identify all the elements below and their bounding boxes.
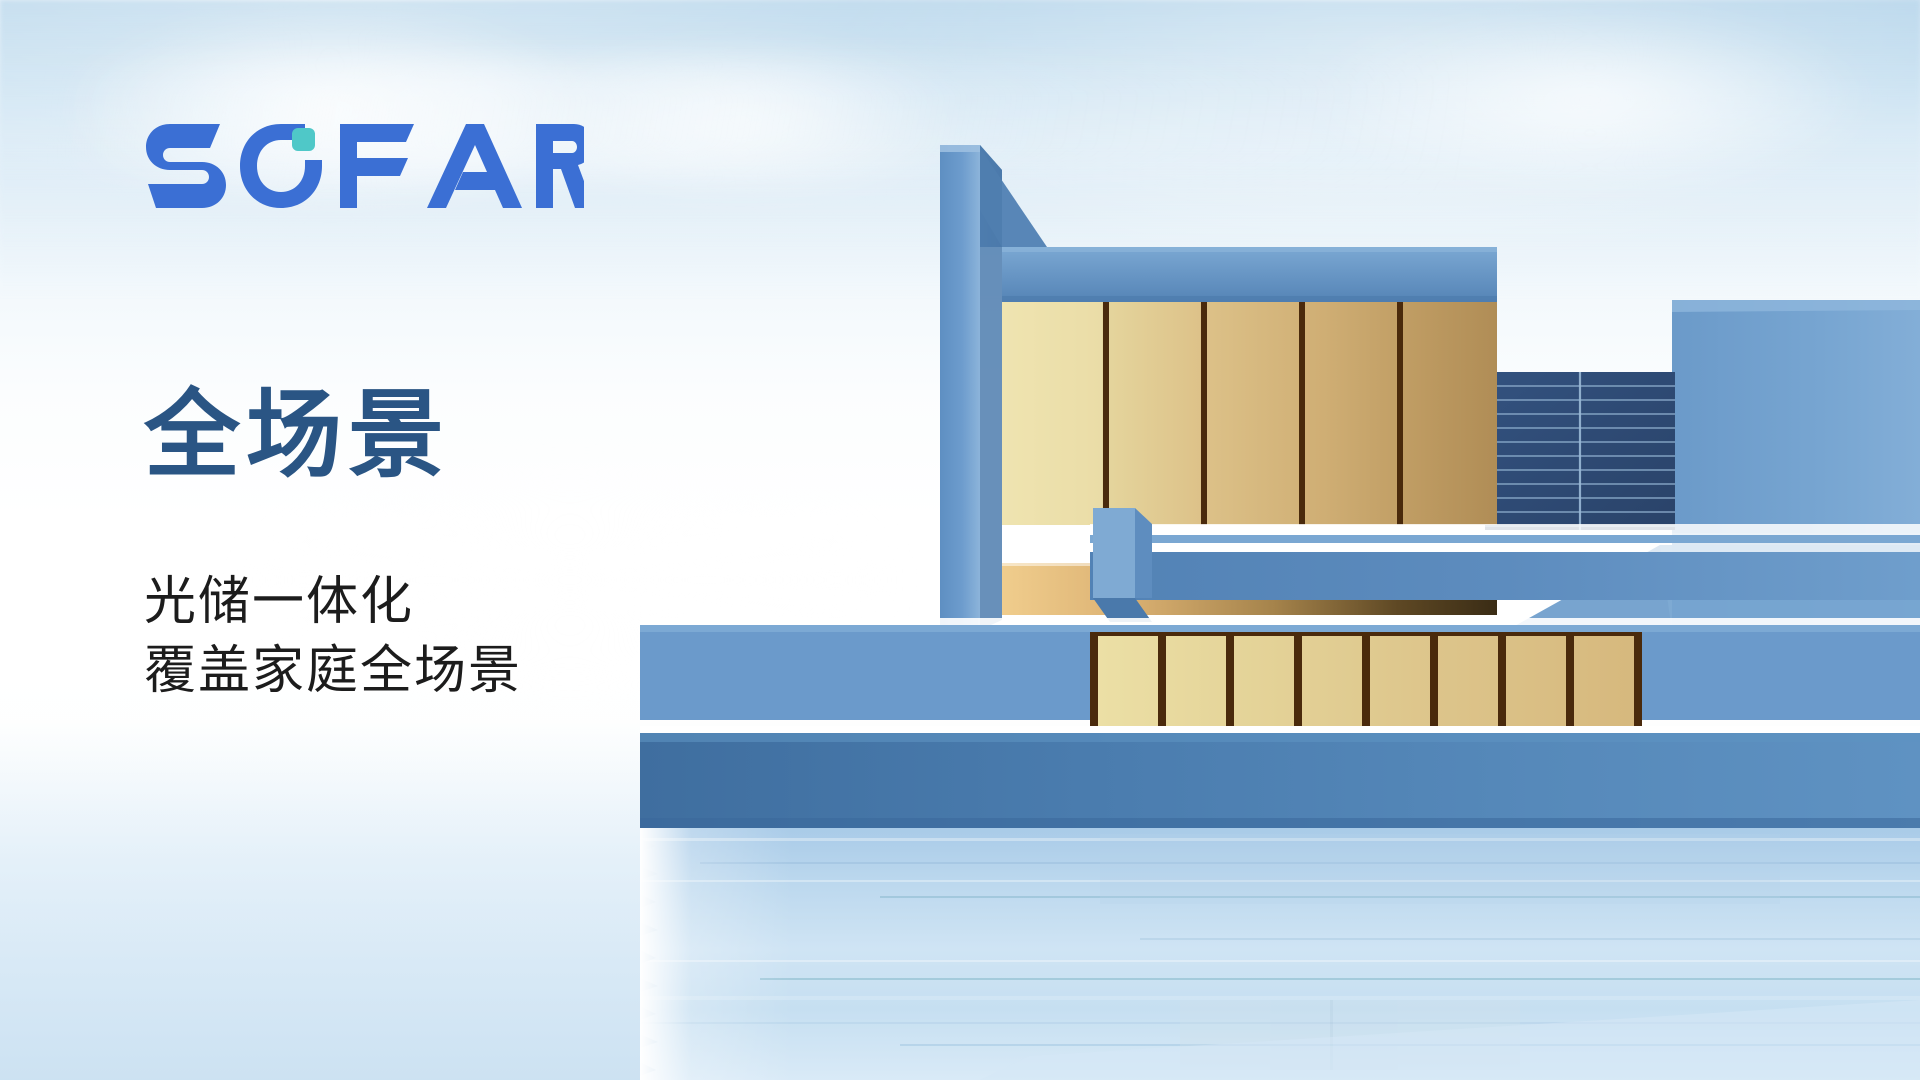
sofar-logo [144, 120, 584, 212]
logo-accent-square [292, 128, 315, 151]
subtitle-line-1: 光储一体化 [144, 568, 522, 637]
sky-bottom-tint [0, 720, 1920, 1080]
hero-banner: 全场景 光储一体化 覆盖家庭全场景 [0, 0, 1920, 1080]
page-subtitle: 光储一体化 覆盖家庭全场景 [144, 568, 522, 705]
brand-block [144, 120, 704, 212]
page-title: 全场景 [144, 388, 450, 484]
subtitle-line-2: 覆盖家庭全场景 [144, 637, 522, 706]
